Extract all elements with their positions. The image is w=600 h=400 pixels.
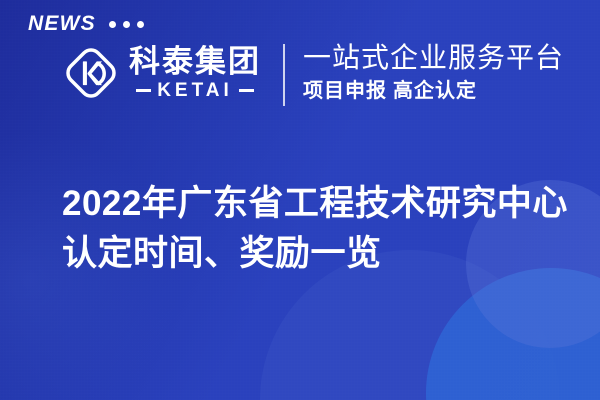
bullet-dot-icon bbox=[109, 21, 116, 28]
brand-lockup: 科泰集团 KETAI bbox=[62, 44, 261, 102]
headline-title: 2022年广东省工程技术研究中心认定时间、奖励一览 bbox=[62, 179, 582, 278]
slogan-primary: 一站式企业服务平台 bbox=[303, 42, 564, 74]
news-banner: NEWS 科泰集团 KETAI bbox=[0, 0, 600, 400]
news-eyebrow: NEWS bbox=[28, 13, 144, 34]
slogan-secondary: 项目申报 高企认定 bbox=[303, 80, 564, 103]
slogan-block: 一站式企业服务平台 项目申报 高企认定 bbox=[303, 42, 564, 103]
background-circle-accent bbox=[426, 268, 600, 400]
bullet-dot-icon bbox=[137, 21, 144, 28]
news-dots bbox=[109, 21, 144, 28]
horizontal-rule-icon bbox=[136, 89, 151, 92]
news-label: NEWS bbox=[28, 13, 96, 34]
brand-name-en-row: KETAI bbox=[136, 81, 254, 100]
ketai-diamond-monogram-icon bbox=[62, 44, 120, 102]
horizontal-rule-icon bbox=[239, 89, 254, 92]
bullet-dot-icon bbox=[123, 21, 130, 28]
vertical-divider-icon bbox=[283, 44, 285, 106]
brand-name-en: KETAI bbox=[157, 81, 233, 100]
brand-name-cn: 科泰集团 bbox=[129, 46, 261, 79]
brand-names: 科泰集团 KETAI bbox=[129, 46, 261, 100]
